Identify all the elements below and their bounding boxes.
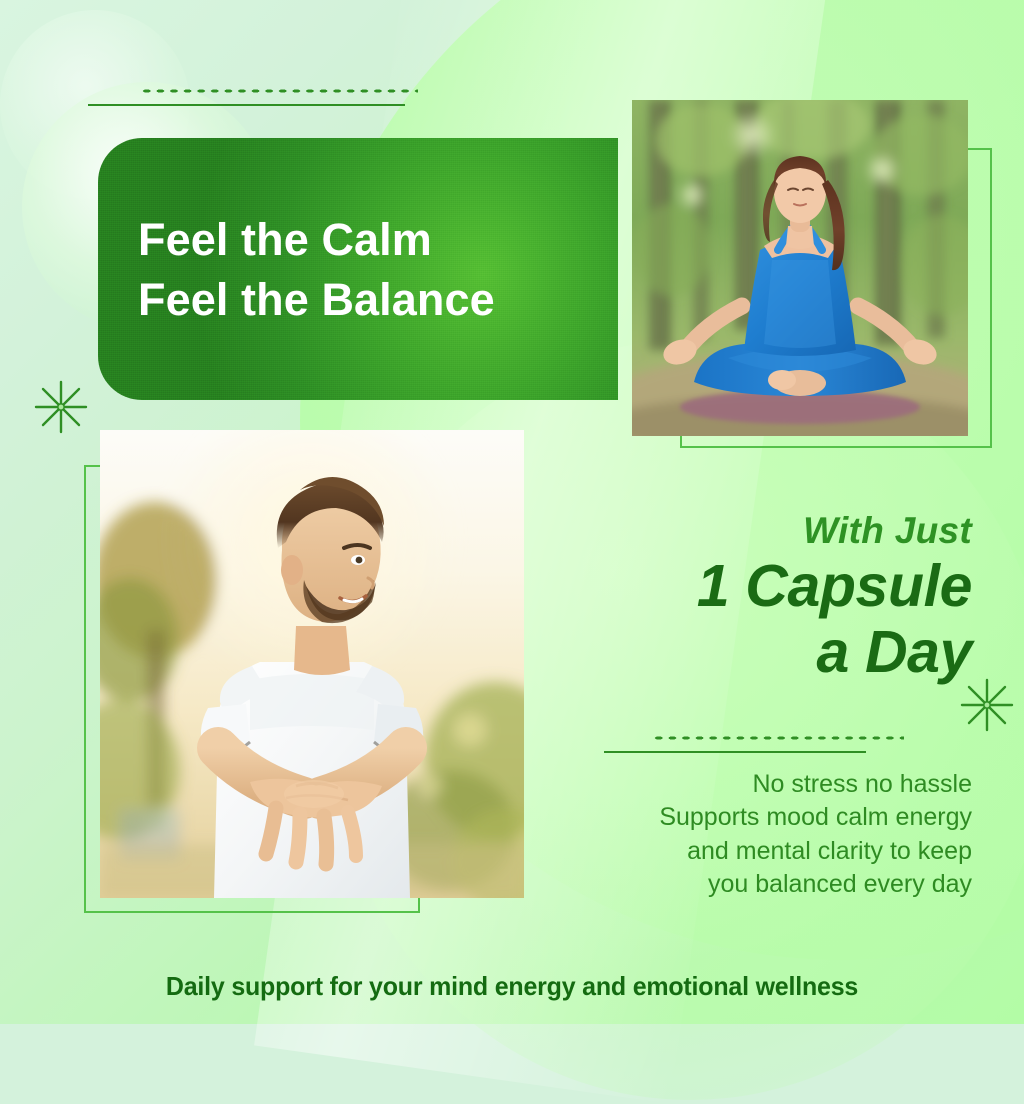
dotted-rule-top — [88, 88, 418, 106]
solid-rule-icon — [604, 751, 866, 753]
dotted-line-icon — [140, 88, 418, 94]
stretching-man-photo — [100, 430, 524, 898]
meditation-photo-illustration — [632, 100, 968, 436]
bottom-tagline: Daily support for your mind energy and e… — [20, 971, 1003, 1002]
body-copy: No stress no hassle Supports mood calm e… — [540, 768, 972, 901]
stretching-man-photo-illustration — [100, 430, 524, 898]
headline-banner: Feel the Calm Feel the Balance — [98, 138, 618, 400]
dotted-line-icon — [652, 735, 904, 741]
body-copy-line-2: Supports mood calm energy — [540, 801, 972, 834]
offer-block: With Just 1 Capsule a Day — [540, 512, 972, 684]
solid-rule-icon — [88, 104, 405, 106]
headline-text: Feel the Calm Feel the Balance — [98, 138, 618, 330]
body-copy-line-1: No stress no hassle — [540, 768, 972, 801]
offer-eyebrow: With Just — [540, 512, 972, 551]
offer-amount-line-1: 1 Capsule — [540, 555, 972, 618]
meditation-photo — [632, 100, 968, 436]
sparkle-left-icon — [32, 378, 90, 436]
body-copy-line-3: and mental clarity to keep — [540, 835, 972, 868]
headline-line-1: Feel the Calm — [138, 210, 618, 270]
offer-amount-line-2: a Day — [540, 621, 972, 684]
headline-line-2: Feel the Balance — [138, 270, 618, 330]
dotted-rule-right — [604, 735, 904, 753]
body-copy-line-4: you balanced every day — [540, 868, 972, 901]
